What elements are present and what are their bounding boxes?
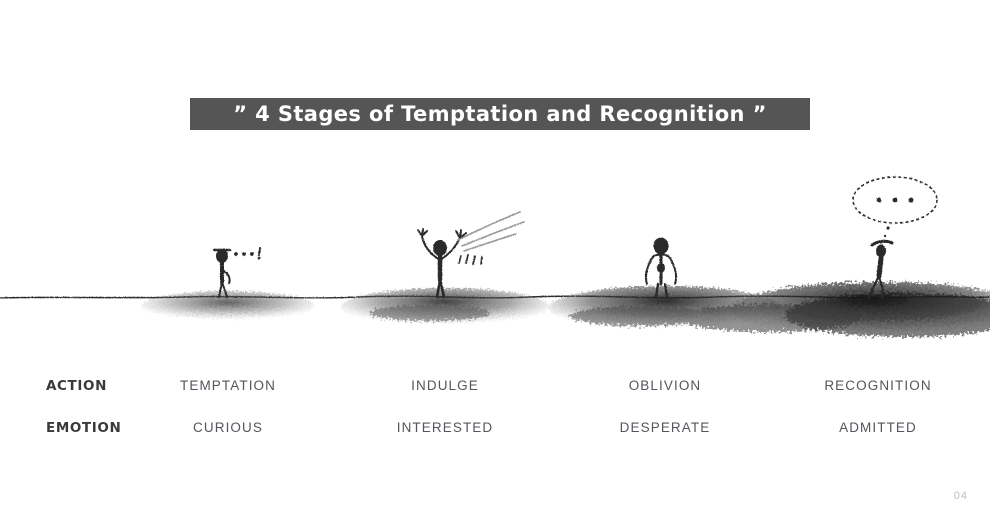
title-bar: ” 4 Stages of Temptation and Recognition… [190, 98, 810, 130]
stage-2-action: INDULGE [345, 378, 545, 393]
dots-annotation-stage-1 [234, 248, 260, 259]
emotion-row: EMOTION CURIOUS INTERESTED DESPERATE ADM… [0, 420, 990, 442]
thought-bubble-stage-4 [853, 177, 937, 237]
stage-label-grid: ACTION TEMPTATION INDULGE OBLIVION RECOG… [0, 372, 990, 452]
page-number: 04 [954, 490, 968, 502]
motion-streaks-stage-2 [458, 212, 524, 251]
stage-3-emotion: DESPERATE [565, 420, 765, 435]
stage-4-emotion: ADMITTED [778, 420, 978, 435]
slide: ” 4 Stages of Temptation and Recognition… [0, 0, 990, 518]
stage-4-action: RECOGNITION [778, 378, 978, 393]
action-row-label: ACTION [46, 378, 107, 394]
falling-marks-stage-2 [459, 255, 482, 264]
illustration-scene [0, 150, 990, 340]
action-row: ACTION TEMPTATION INDULGE OBLIVION RECOG… [0, 378, 990, 400]
figure-stage-1 [214, 249, 230, 297]
emotion-row-label: EMOTION [46, 420, 121, 436]
stage-3-action: OBLIVION [565, 378, 765, 393]
stage-1-action: TEMPTATION [128, 378, 328, 393]
stage-2-emotion: INTERESTED [345, 420, 545, 435]
page-title: ” 4 Stages of Temptation and Recognition… [233, 102, 767, 126]
stage-1-emotion: CURIOUS [128, 420, 328, 435]
